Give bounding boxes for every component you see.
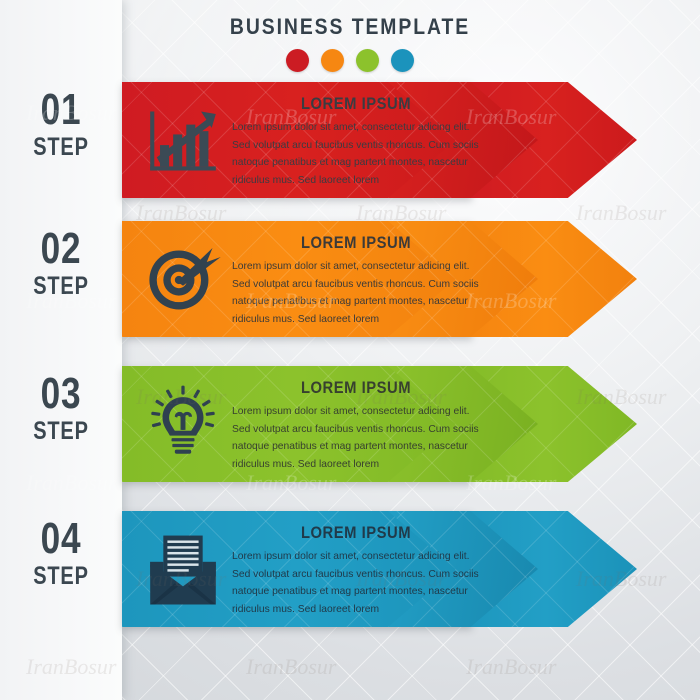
step-row-04[interactable]: 04 STEP L xyxy=(0,511,700,627)
watermark-text: IranBosur xyxy=(246,654,336,680)
step-number-04: 04 xyxy=(12,517,110,561)
step-body-03: Lorem ipsum dolor sit amet, consectetur … xyxy=(232,403,480,474)
watermark-text: IranBosur xyxy=(466,654,556,680)
step-row-03[interactable]: 03 STEP LOREM IPSUM xyxy=(0,366,700,482)
dot-orange xyxy=(321,49,344,72)
step-number-block-02: 02 STEP xyxy=(0,227,122,302)
lightbulb-idea-icon xyxy=(140,382,226,468)
step-heading-01: LOREM IPSUM xyxy=(248,94,464,114)
step-body-04: Lorem ipsum dolor sit amet, consectetur … xyxy=(232,548,480,619)
step-label-02: STEP xyxy=(12,271,110,302)
step-number-02: 02 xyxy=(12,227,110,271)
bar-chart-growth-icon xyxy=(140,98,226,184)
step-row-01[interactable]: 01 STEP LOREM IPSUM Lorem ipsum dolor si… xyxy=(0,82,700,198)
envelope-letter-icon xyxy=(140,527,226,613)
step-number-block-03: 03 STEP xyxy=(0,372,122,447)
step-text-block-04: LOREM IPSUM Lorem ipsum dolor sit amet, … xyxy=(232,523,480,619)
step-text-block-01: LOREM IPSUM Lorem ipsum dolor sit amet, … xyxy=(232,94,480,190)
color-dot-row xyxy=(0,49,700,72)
step-number-block-01: 01 STEP xyxy=(0,88,122,163)
step-heading-04: LOREM IPSUM xyxy=(248,523,464,543)
step-number-01: 01 xyxy=(12,88,110,132)
page-title: BUSINESS TEMPLATE xyxy=(42,14,658,40)
step-body-02: Lorem ipsum dolor sit amet, consectetur … xyxy=(232,258,480,329)
dot-green xyxy=(356,49,379,72)
dot-red xyxy=(286,49,309,72)
step-heading-02: LOREM IPSUM xyxy=(248,233,464,253)
step-heading-03: LOREM IPSUM xyxy=(248,378,464,398)
step-label-03: STEP xyxy=(12,416,110,447)
header: BUSINESS TEMPLATE xyxy=(0,14,700,72)
step-body-01: Lorem ipsum dolor sit amet, consectetur … xyxy=(232,119,480,190)
target-arrow-icon xyxy=(140,237,226,323)
dot-blue xyxy=(391,49,414,72)
step-label-04: STEP xyxy=(12,561,110,592)
step-text-block-02: LOREM IPSUM Lorem ipsum dolor sit amet, … xyxy=(232,233,480,329)
step-label-01: STEP xyxy=(12,132,110,163)
step-text-block-03: LOREM IPSUM Lorem ipsum dolor sit amet, … xyxy=(232,378,480,474)
step-number-03: 03 xyxy=(12,372,110,416)
step-number-block-04: 04 STEP xyxy=(0,517,122,592)
step-row-02[interactable]: 02 STEP LOREM IPSUM Lorem ipsum dolor si… xyxy=(0,221,700,337)
